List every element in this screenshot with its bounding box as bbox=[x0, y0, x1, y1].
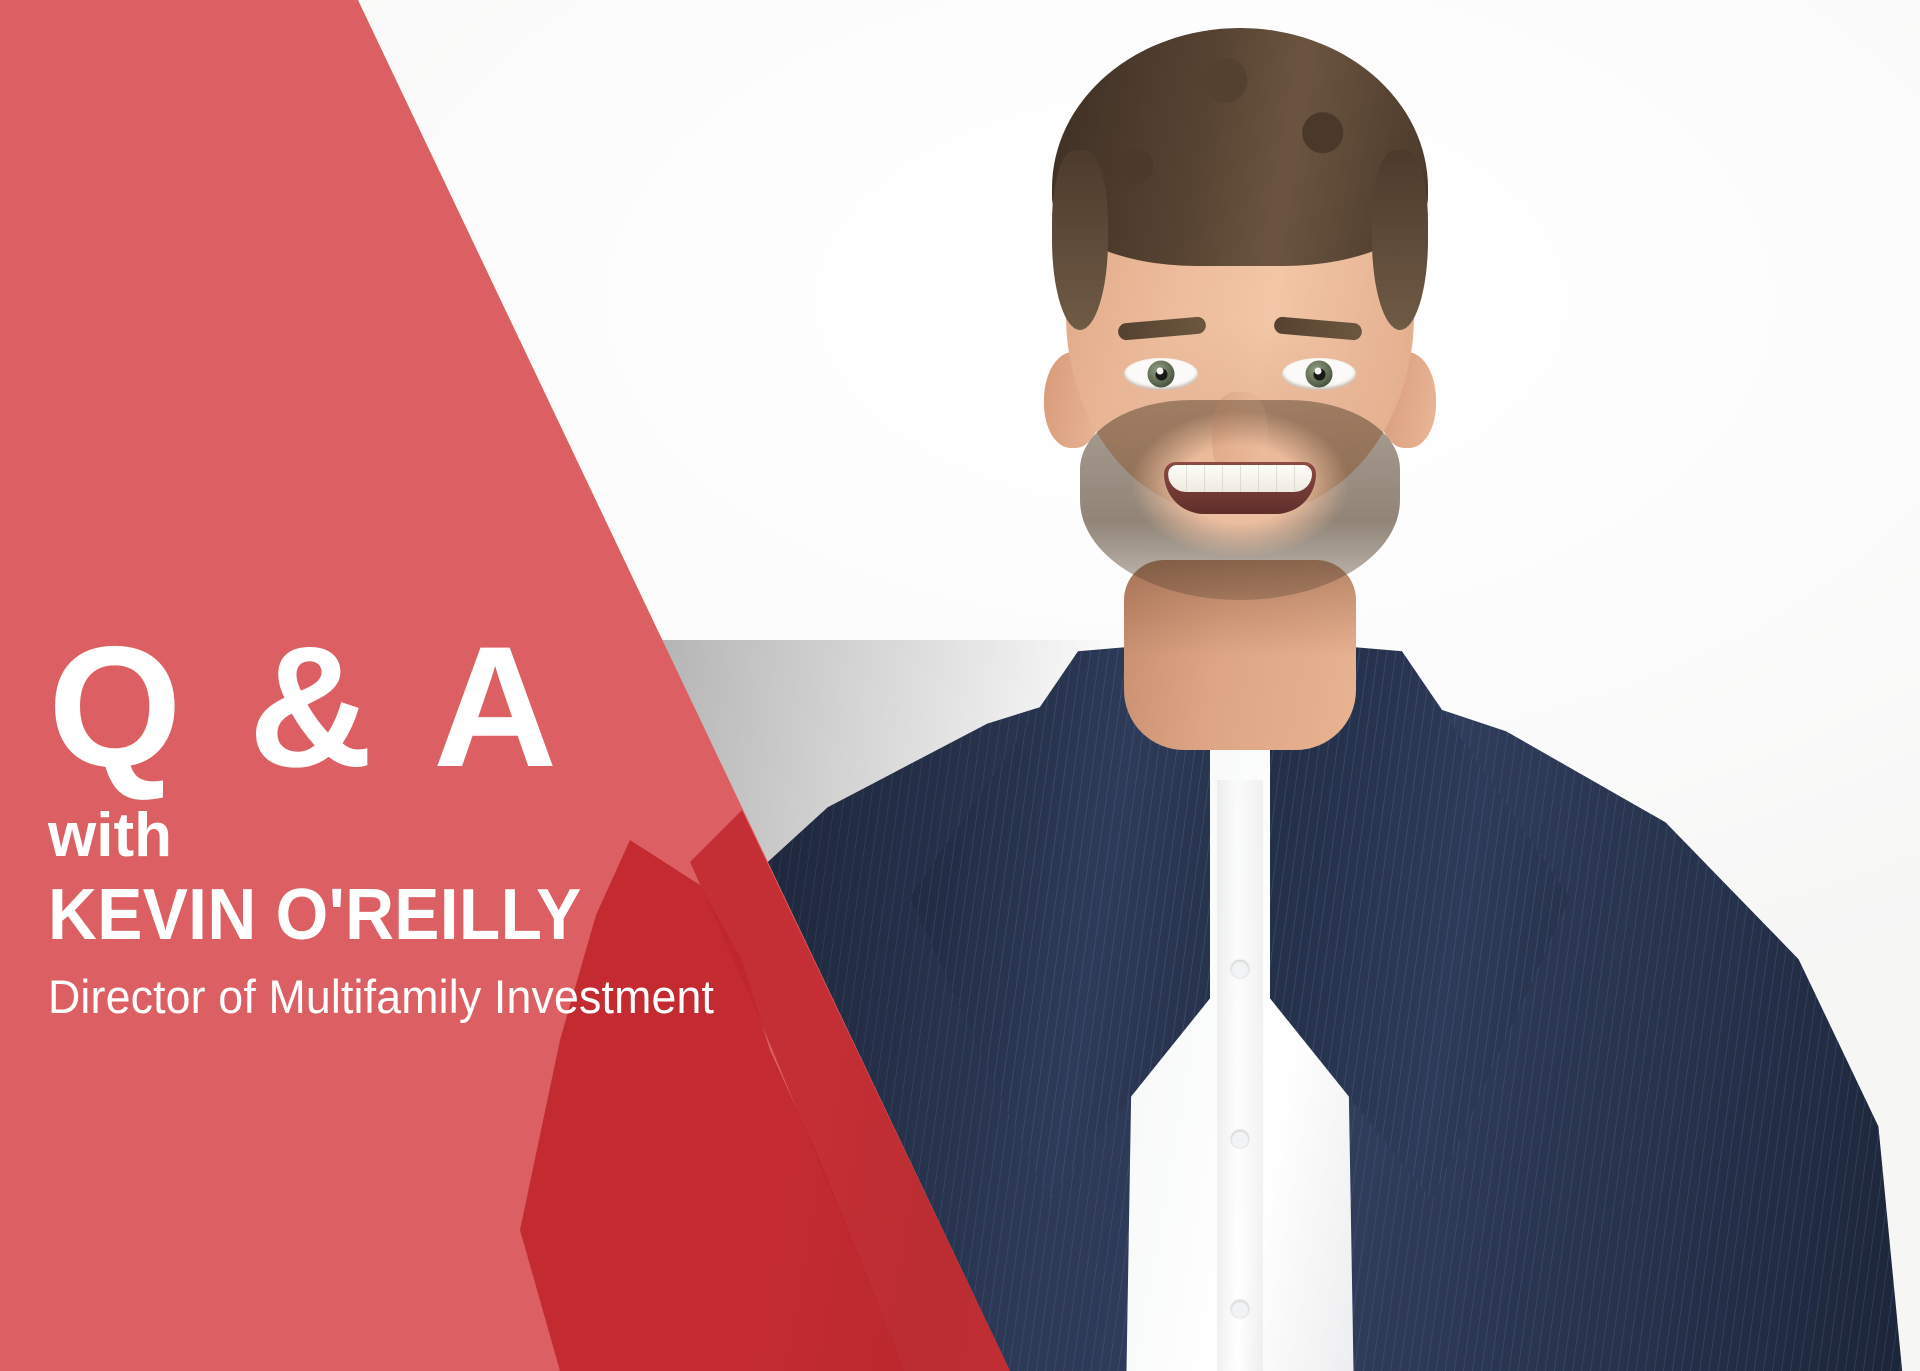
title-text-block: Q & A with KEVIN O'REILLY Director of Mu… bbox=[48, 620, 708, 1020]
with-label: with bbox=[48, 805, 708, 867]
mouth bbox=[1164, 462, 1316, 514]
shirt-button bbox=[1231, 1300, 1249, 1318]
teeth bbox=[1168, 465, 1312, 492]
hair-side-right bbox=[1372, 150, 1428, 330]
eyebrow-left bbox=[1117, 316, 1206, 341]
eye-glint-left bbox=[1156, 368, 1163, 375]
qa-heading: Q & A bbox=[48, 620, 708, 795]
qa-banner: Q & A with KEVIN O'REILLY Director of Mu… bbox=[0, 0, 1920, 1371]
person-role: Director of Multifamily Investment bbox=[48, 973, 675, 1020]
eye-right bbox=[1282, 358, 1356, 390]
shirt-button bbox=[1231, 960, 1249, 978]
eyebrow-right bbox=[1273, 316, 1362, 341]
eye-glint-right bbox=[1314, 368, 1321, 375]
shirt-button bbox=[1231, 1130, 1249, 1148]
person-name: KEVIN O'REILLY bbox=[48, 879, 668, 951]
iris-right bbox=[1306, 361, 1333, 388]
eye-left bbox=[1124, 358, 1198, 390]
hair-side-left bbox=[1052, 150, 1108, 330]
shirt-placket bbox=[1217, 780, 1263, 1371]
iris-left bbox=[1148, 361, 1175, 388]
